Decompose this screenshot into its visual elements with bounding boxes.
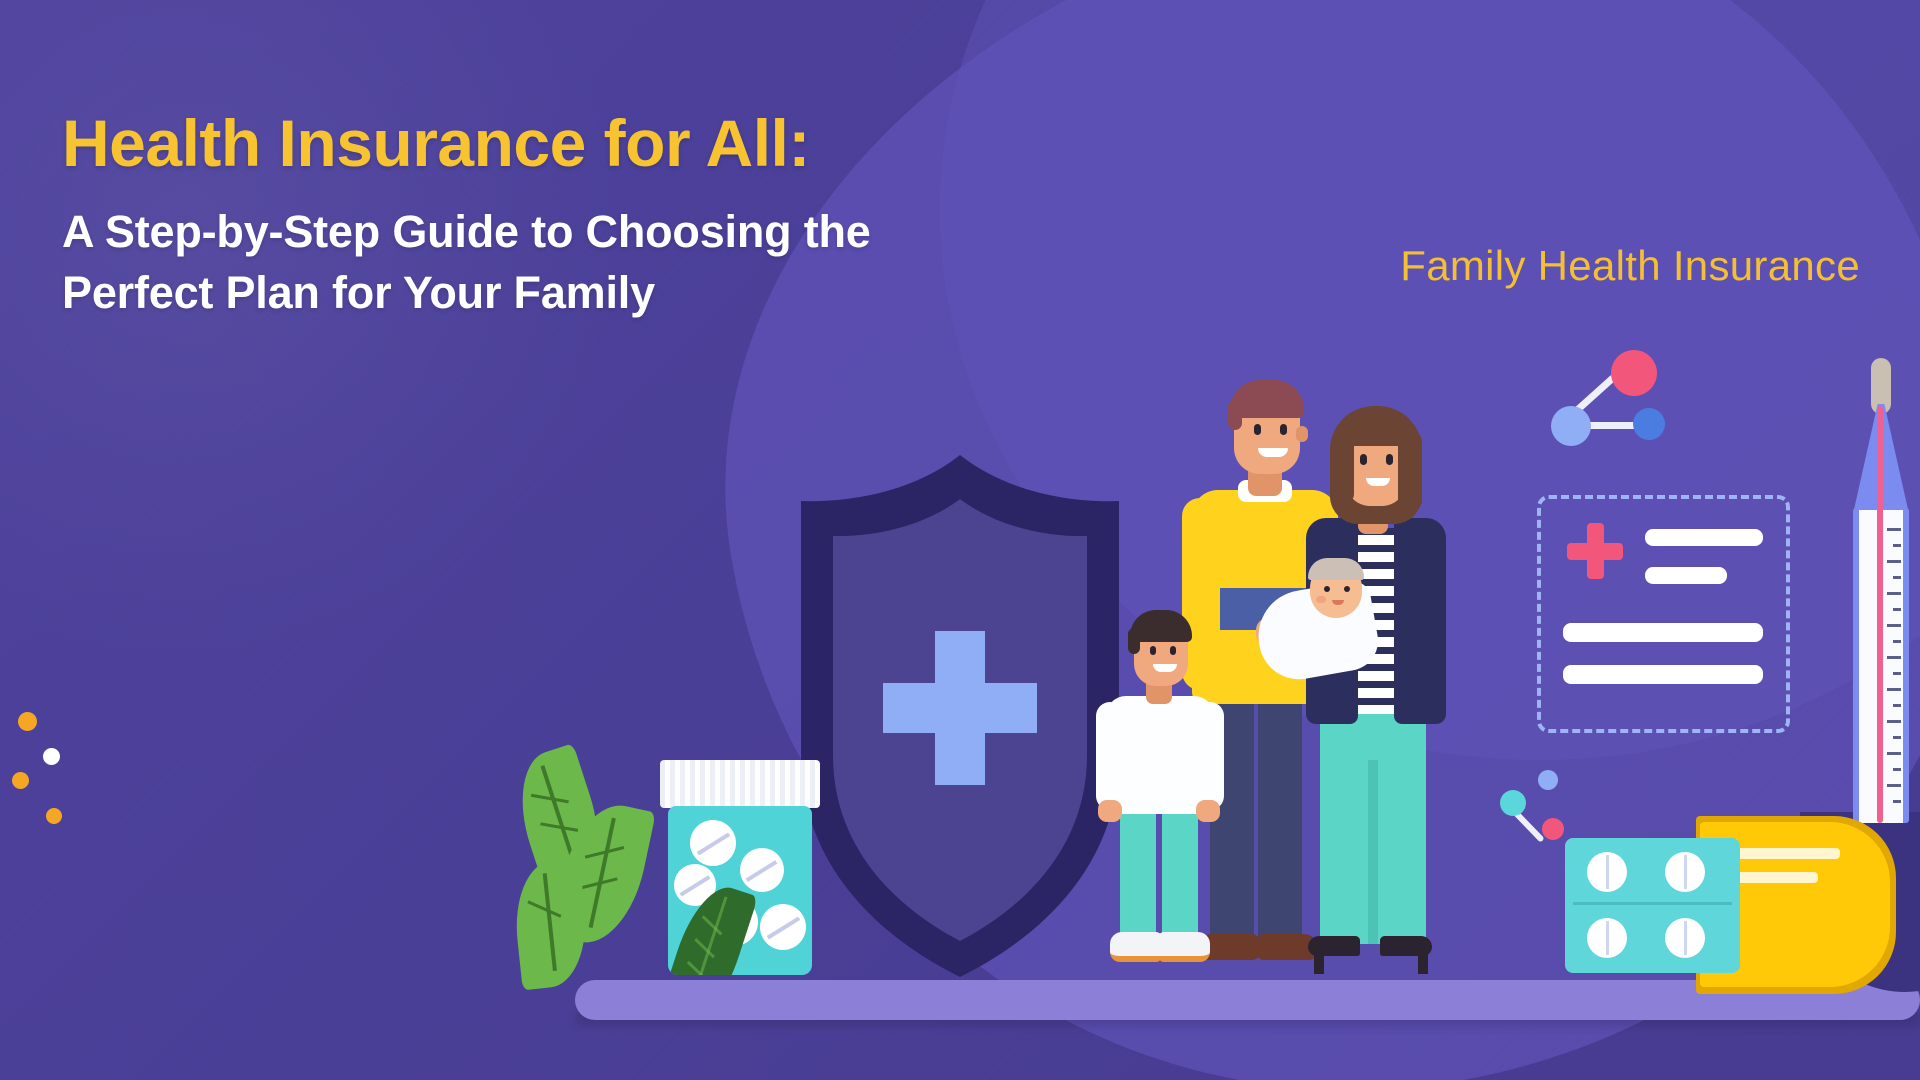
- figure-baby: [1258, 560, 1378, 690]
- bottle-body: [668, 806, 812, 975]
- family-of-four: [1150, 370, 1460, 990]
- figure-mother: [1300, 400, 1450, 992]
- leaf-3: [510, 858, 593, 991]
- bottle-cap: [660, 760, 820, 808]
- decor-dot-orange-2: [12, 772, 29, 789]
- health-insurance-banner: Health Insurance for All: A Step-by-Step…: [0, 0, 1920, 1080]
- card-line-2: [1645, 567, 1727, 584]
- medical-insurance-card: [1537, 495, 1790, 733]
- card-line-3: [1563, 623, 1763, 642]
- pill-blister-pack: [1565, 838, 1740, 973]
- molecule-decoration-top-icon: [1545, 350, 1665, 455]
- son-shoe-right: [1158, 932, 1210, 962]
- page-subtitle: A Step-by-Step Guide to Choosing the Per…: [62, 202, 992, 324]
- decor-dot-orange-1: [18, 712, 37, 731]
- card-line-4: [1563, 665, 1763, 684]
- mother-blazer-right: [1394, 518, 1446, 724]
- baby-hair: [1308, 558, 1364, 580]
- son-shoe-left: [1110, 932, 1162, 962]
- decor-dot-orange-3: [46, 808, 62, 824]
- headline-block: Health Insurance for All: A Step-by-Step…: [62, 110, 1082, 324]
- thermometer-icon: [1845, 358, 1917, 823]
- caption-label: Family Health Insurance: [1400, 242, 1860, 290]
- card-line-1: [1645, 529, 1763, 546]
- figure-son: [1104, 610, 1224, 990]
- shield-with-medical-cross: [795, 455, 1125, 977]
- page-title: Health Insurance for All:: [62, 110, 1082, 176]
- medical-cross-icon: [1567, 523, 1623, 579]
- molecule-decoration-bottom-icon: [1500, 770, 1574, 842]
- decor-dot-white-1: [43, 748, 60, 765]
- father-smile: [1258, 448, 1288, 457]
- background-glow: [0, 0, 640, 680]
- pill-bottle: [660, 760, 820, 975]
